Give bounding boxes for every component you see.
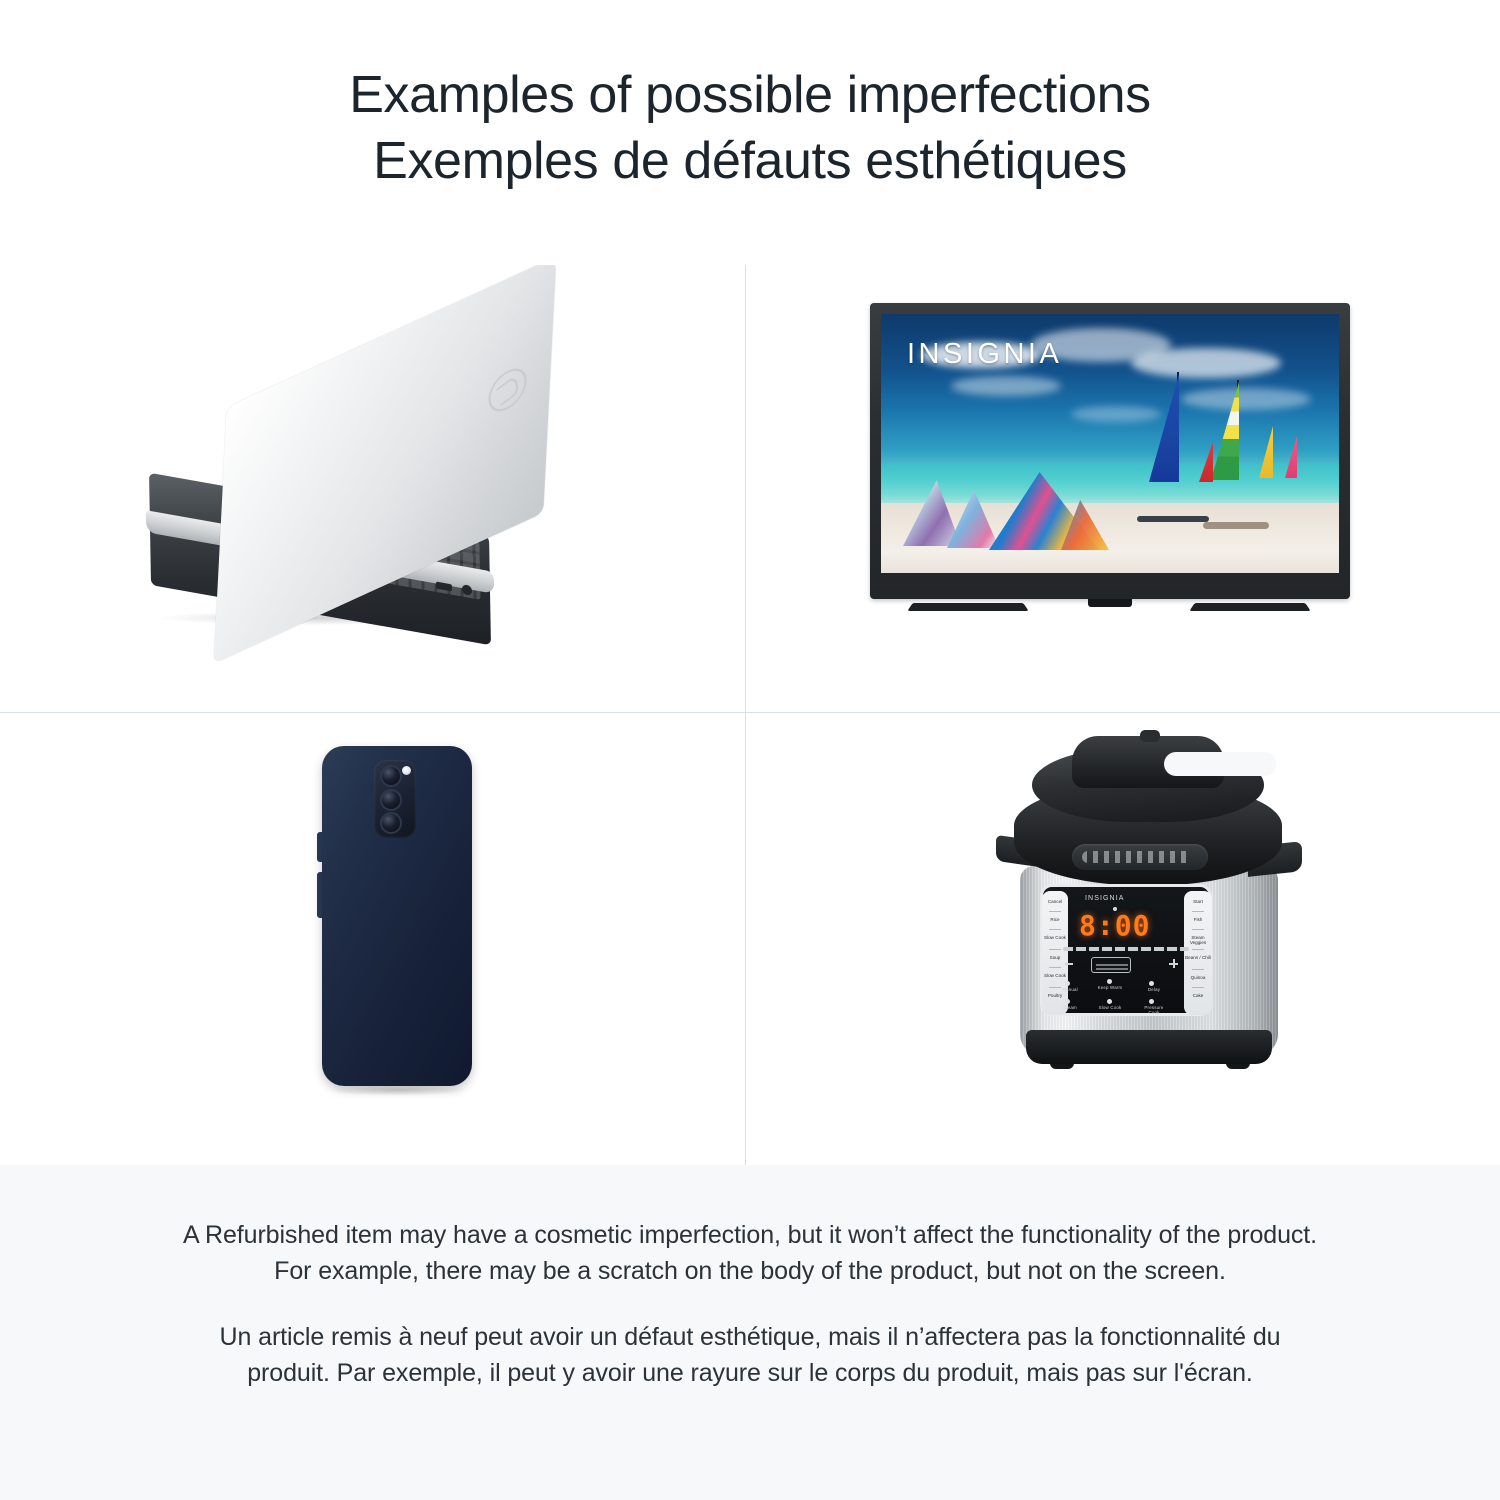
refurbished-imperfections-infographic: Examples of possible imperfections Exemp…: [0, 0, 1500, 1500]
cooker-pressure-valve-icon: [1140, 730, 1160, 742]
pressure-cooker-product-image: Cancel Rice Slow Cook Soup Slow Cook Pou…: [1000, 734, 1330, 1114]
laptop-illustration: [0, 265, 745, 712]
cooker-button-label[interactable]: Cake: [1184, 993, 1212, 998]
footer-paragraph-french: Un article remis à neuf peut avoir un dé…: [175, 1319, 1325, 1391]
cooker-button-label[interactable]: Soup: [1042, 955, 1068, 960]
phone-camera-module: [374, 760, 416, 838]
pressure-cooker-illustration: Cancel Rice Slow Cook Soup Slow Cook Pou…: [745, 712, 1500, 1165]
phone-back-panel: [322, 746, 472, 1086]
page-footer: A Refurbished item may have a cosmetic i…: [0, 1165, 1500, 1500]
grid-cell-phone: [0, 712, 745, 1165]
page-title-french: Exemples de défauts esthétiques: [373, 128, 1127, 194]
cooker-timer-display: 8:00: [1079, 912, 1150, 940]
cooker-button-separator: [1049, 967, 1061, 968]
cooker-inner-label: Delay: [1139, 987, 1169, 992]
cooker-button-separator: [1192, 987, 1204, 988]
cooker-control-panel: Cancel Rice Slow Cook Soup Slow Cook Pou…: [1040, 884, 1212, 1016]
cooker-button-label[interactable]: Beans / Chili: [1184, 955, 1212, 960]
tv-scene-cloud: [1181, 388, 1311, 410]
tv-bezel: INSIGNIA: [870, 303, 1350, 599]
phone-camera-lens-3: [380, 812, 402, 834]
phone-camera-lens-1: [380, 765, 402, 787]
cooker-button-label[interactable]: Rice: [1042, 917, 1068, 922]
cooker-handle-opening: [1164, 752, 1276, 776]
cooker-round-button[interactable]: [1149, 999, 1154, 1004]
cooker-button-column-left: Cancel Rice Slow Cook Soup Slow Cook Pou…: [1042, 891, 1068, 1015]
tv-illustration: INSIGNIA: [745, 265, 1500, 712]
phone-illustration: [0, 712, 745, 1165]
dell-logo-icon: [485, 360, 531, 420]
cooker-button-label[interactable]: Fish: [1184, 917, 1212, 922]
cooker-brand-logo: INSIGNIA: [1085, 895, 1125, 902]
tv-brand-logo: INSIGNIA: [907, 338, 1062, 371]
cooker-round-button[interactable]: [1107, 979, 1112, 984]
cooker-button-separator: [1192, 929, 1204, 930]
cooker-button-separator: [1192, 969, 1204, 970]
grid-cell-pressure-cooker: Cancel Rice Slow Cook Soup Slow Cook Pou…: [745, 712, 1500, 1165]
cooker-lid-vent: [1072, 844, 1208, 870]
cooker-round-button[interactable]: [1065, 999, 1070, 1004]
grid-cell-laptop: [0, 265, 745, 712]
tv-scene-hull: [1137, 516, 1209, 522]
tv-product-image: INSIGNIA: [870, 303, 1370, 663]
cooker-button-label[interactable]: Cancel: [1042, 899, 1068, 904]
cooker-inner-label: Keep Warm: [1095, 985, 1125, 990]
tv-screen: INSIGNIA: [881, 314, 1339, 573]
cooker-inner-label: Pressure Cook: [1139, 1005, 1169, 1015]
cooker-round-button[interactable]: [1149, 981, 1154, 986]
tv-scene-hull: [1203, 522, 1269, 529]
cooker-lid-handle: [1072, 736, 1224, 788]
footer-paragraph-english: A Refurbished item may have a cosmetic i…: [175, 1217, 1325, 1289]
cooker-base: [1026, 1030, 1272, 1064]
phone-camera-lens-2: [380, 789, 402, 811]
laptop-product-image: [150, 335, 610, 635]
grid-cell-tv: INSIGNIA: [745, 265, 1500, 712]
phone-flash-icon: [402, 766, 411, 775]
cooker-button-label[interactable]: Start: [1184, 899, 1212, 904]
cooker-minus-button[interactable]: [1065, 963, 1073, 965]
cooker-round-button[interactable]: [1107, 999, 1112, 1004]
cooker-button-separator: [1192, 949, 1204, 950]
cooker-inner-label: Steam: [1055, 1005, 1085, 1010]
cooker-progress-bar: [1063, 947, 1189, 951]
page-header: Examples of possible imperfections Exemp…: [0, 0, 1500, 265]
cooker-inner-label: Slow Cook: [1095, 1005, 1125, 1010]
tv-foot-left-b: [945, 603, 1028, 611]
phone-product-image: [282, 746, 502, 1126]
tv-scene-cloud: [951, 376, 1061, 396]
cooker-button-column-right: Start Fish Steam Veggies Beans / Chili Q…: [1184, 891, 1212, 1015]
page-title-english: Examples of possible imperfections: [349, 62, 1150, 128]
examples-grid: INSIGNIA: [0, 265, 1500, 1165]
cooker-button-label[interactable]: Steam Veggies: [1184, 935, 1212, 946]
cooker-button-label[interactable]: Quinoa: [1184, 975, 1212, 980]
cooker-button-separator: [1049, 911, 1061, 912]
cooker-button-separator: [1192, 911, 1204, 912]
cooker-mode-select-button[interactable]: [1091, 957, 1131, 973]
cooker-button-label[interactable]: Poultry: [1042, 993, 1068, 998]
tv-foot-right-b: [1227, 603, 1310, 611]
tv-scene-cloud: [1071, 406, 1161, 422]
cooker-button-separator: [1049, 949, 1061, 950]
cooker-button-separator: [1049, 929, 1061, 930]
cooker-inner-label: Manual: [1055, 987, 1085, 992]
cooker-round-button[interactable]: [1065, 981, 1070, 986]
cooker-button-label[interactable]: Slow Cook: [1042, 973, 1068, 978]
cooker-button-label[interactable]: Slow Cook: [1042, 935, 1068, 940]
cooker-plus-button[interactable]: [1169, 959, 1178, 968]
tv-scene-cloud: [1131, 348, 1281, 378]
